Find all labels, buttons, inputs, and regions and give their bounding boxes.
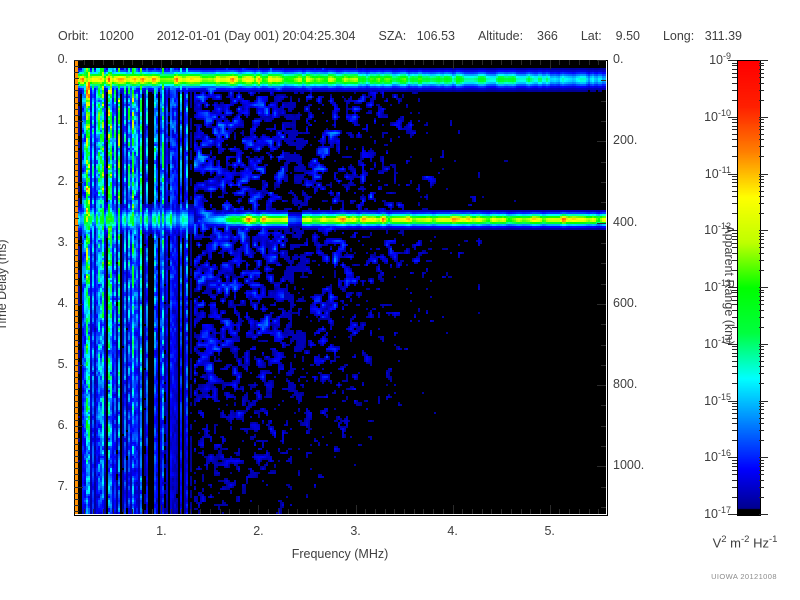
tick-mark	[759, 270, 764, 271]
y-axis-right-tick-label: 1000.	[613, 458, 673, 472]
tick-mark	[84, 60, 85, 65]
tick-mark	[74, 444, 79, 445]
tick-mark	[569, 60, 570, 65]
tick-mark	[732, 413, 737, 414]
tick-mark	[732, 134, 737, 135]
tick-mark	[759, 83, 764, 84]
tick-mark	[74, 267, 79, 268]
tick-mark	[74, 420, 79, 421]
tick-mark	[74, 383, 79, 384]
tick-mark	[74, 505, 79, 506]
tick-mark	[346, 60, 347, 65]
tick-mark	[74, 164, 79, 165]
colorbar[interactable]	[737, 60, 761, 516]
tick-mark	[181, 509, 182, 514]
tick-mark	[385, 509, 386, 514]
y-axis-tick-label: 5.	[34, 357, 68, 371]
tick-mark	[732, 260, 737, 261]
tick-mark	[732, 239, 737, 240]
tick-mark	[759, 179, 764, 180]
tick-mark	[123, 509, 124, 514]
tick-mark	[732, 366, 737, 367]
y-axis-tick-label: 6.	[34, 418, 68, 432]
tick-mark	[601, 365, 606, 366]
tick-mark	[601, 426, 606, 427]
tick-mark	[74, 432, 79, 433]
tick-mark	[732, 213, 737, 214]
tick-mark	[759, 260, 764, 261]
tick-mark	[511, 60, 512, 65]
tick-mark	[732, 119, 737, 120]
tick-mark	[501, 509, 502, 514]
altitude-value: 366	[537, 29, 558, 43]
tick-mark	[161, 60, 162, 69]
tick-mark	[759, 300, 764, 301]
tick-mark	[732, 460, 737, 461]
colorbar-tick-label: 10-15	[675, 392, 731, 408]
tick-mark	[759, 487, 764, 488]
tick-mark	[601, 345, 606, 346]
tick-mark	[759, 327, 764, 328]
tick-mark	[414, 60, 415, 65]
tick-mark	[84, 509, 85, 514]
tick-mark	[462, 509, 463, 514]
tick-mark	[759, 203, 764, 204]
tick-mark	[601, 243, 606, 244]
tick-mark	[759, 233, 764, 234]
tick-mark	[601, 121, 606, 122]
tick-mark	[74, 60, 83, 61]
tick-mark	[74, 237, 79, 238]
tick-mark	[759, 186, 764, 187]
tick-mark	[559, 509, 560, 514]
tick-mark	[759, 514, 768, 515]
tick-mark	[288, 60, 289, 65]
tick-mark	[732, 353, 737, 354]
tick-mark	[601, 405, 606, 406]
tick-mark	[759, 304, 764, 305]
tick-mark	[759, 356, 764, 357]
tick-mark	[472, 60, 473, 65]
tick-mark	[462, 60, 463, 65]
tick-mark	[74, 170, 79, 171]
tick-mark	[74, 261, 79, 262]
tick-mark	[74, 188, 79, 189]
tick-mark	[74, 493, 79, 494]
tick-mark	[74, 389, 79, 390]
tick-mark	[74, 322, 79, 323]
tick-mark	[74, 231, 79, 232]
tick-mark	[759, 413, 764, 414]
tick-mark	[326, 509, 327, 514]
tick-mark	[759, 119, 764, 120]
tick-mark	[732, 383, 737, 384]
tick-mark	[759, 213, 764, 214]
tick-mark	[74, 182, 83, 183]
tick-mark	[732, 409, 737, 410]
tick-mark	[132, 60, 133, 65]
tick-mark	[759, 174, 768, 175]
tick-mark	[732, 474, 737, 475]
x-axis-title: Frequency (MHz)	[74, 547, 606, 561]
tick-mark	[258, 505, 259, 514]
tick-mark	[732, 139, 737, 140]
tick-mark	[601, 324, 606, 325]
tick-mark	[74, 346, 79, 347]
tick-mark	[200, 60, 201, 65]
tick-mark	[268, 509, 269, 514]
tick-mark	[732, 176, 737, 177]
tick-mark	[74, 218, 79, 219]
tick-mark	[93, 509, 94, 514]
tick-mark	[356, 505, 357, 514]
tick-mark	[394, 509, 395, 514]
colorbar-tick-label: 10-11	[675, 165, 731, 181]
tick-mark	[142, 509, 143, 514]
tick-mark	[74, 206, 79, 207]
tick-mark	[501, 60, 502, 65]
tick-mark	[732, 129, 737, 130]
long-label: Long:	[663, 29, 694, 43]
tick-mark	[132, 509, 133, 514]
tick-mark	[482, 509, 483, 514]
tick-mark	[732, 243, 737, 244]
tick-mark	[759, 353, 764, 354]
tick-mark	[404, 509, 405, 514]
tick-mark	[601, 487, 606, 488]
tick-mark	[732, 300, 737, 301]
colorbar-tick-label: 10-13	[675, 278, 731, 294]
tick-mark	[375, 60, 376, 65]
tick-mark	[759, 430, 764, 431]
tick-mark	[93, 60, 94, 65]
tick-mark	[123, 60, 124, 65]
tick-mark	[759, 139, 764, 140]
tick-mark	[759, 90, 764, 91]
tick-mark	[732, 126, 737, 127]
tick-mark	[589, 509, 590, 514]
tick-mark	[453, 60, 454, 69]
tick-mark	[74, 480, 79, 481]
tick-mark	[732, 292, 737, 293]
tick-mark	[103, 509, 104, 514]
tick-mark	[530, 509, 531, 514]
tick-mark	[74, 298, 79, 299]
tick-mark	[732, 356, 737, 357]
long-value: 311.39	[705, 29, 742, 43]
tick-mark	[759, 60, 768, 61]
tick-mark	[74, 279, 79, 280]
tick-mark	[759, 418, 764, 419]
tick-mark	[759, 440, 764, 441]
tick-mark	[336, 509, 337, 514]
tick-mark	[375, 509, 376, 514]
tick-mark	[161, 505, 162, 514]
tick-mark	[268, 60, 269, 65]
tick-mark	[74, 353, 79, 354]
tick-mark	[601, 446, 606, 447]
tick-mark	[759, 480, 764, 481]
tick-mark	[759, 253, 764, 254]
tick-mark	[759, 117, 768, 118]
tick-mark	[74, 176, 79, 177]
tick-mark	[759, 290, 764, 291]
tick-mark	[113, 60, 114, 65]
tick-mark	[74, 304, 83, 305]
tick-mark	[74, 158, 79, 159]
tick-mark	[74, 243, 83, 244]
tick-mark	[74, 249, 79, 250]
tick-mark	[601, 80, 606, 81]
tick-mark	[433, 509, 434, 514]
tick-mark	[597, 385, 606, 386]
tick-mark	[759, 310, 764, 311]
tick-mark	[74, 212, 79, 213]
y-axis-right-tick-label: 0.	[613, 52, 673, 66]
tick-mark	[414, 509, 415, 514]
tick-mark	[732, 304, 737, 305]
tick-mark	[759, 122, 764, 123]
tick-mark	[326, 60, 327, 65]
tick-mark	[521, 509, 522, 514]
tick-mark	[249, 509, 250, 514]
y-axis-tick-label: 2.	[34, 174, 68, 188]
tick-mark	[74, 316, 79, 317]
tick-mark	[759, 317, 764, 318]
observation-datetime: 2012-01-01 (Day 001) 20:04:25.304	[157, 29, 356, 43]
tick-mark	[443, 509, 444, 514]
tick-mark	[732, 463, 737, 464]
tick-mark	[732, 122, 737, 123]
tick-mark	[74, 450, 79, 451]
tick-mark	[601, 202, 606, 203]
tick-mark	[220, 509, 221, 514]
radargram-heatmap[interactable]	[74, 60, 606, 514]
y-axis-right-tick-label: 800.	[613, 377, 673, 391]
tick-mark	[601, 182, 606, 183]
tick-mark	[74, 377, 79, 378]
tick-mark	[152, 509, 153, 514]
y-axis-right-tick-label: 600.	[613, 296, 673, 310]
tick-mark	[732, 182, 737, 183]
tick-mark	[759, 146, 764, 147]
tick-mark	[732, 247, 737, 248]
tick-mark	[210, 60, 211, 65]
tick-mark	[732, 296, 737, 297]
tick-mark	[74, 255, 79, 256]
tick-mark	[210, 509, 211, 514]
tick-mark	[103, 60, 104, 65]
tick-mark	[74, 145, 79, 146]
tick-mark	[759, 287, 768, 288]
tick-mark	[74, 462, 79, 463]
tick-mark	[336, 60, 337, 65]
tick-mark	[74, 194, 79, 195]
tick-mark	[732, 73, 737, 74]
sza-value: 106.53	[417, 29, 455, 43]
tick-mark	[356, 60, 357, 69]
y-axis-tick-label: 0.	[34, 52, 68, 66]
tick-mark	[732, 361, 737, 362]
tick-mark	[589, 60, 590, 65]
tick-mark	[74, 468, 79, 469]
tick-mark	[732, 69, 737, 70]
colorbar-tick-label: 10-16	[675, 448, 731, 464]
tick-mark	[190, 60, 191, 65]
tick-mark	[181, 60, 182, 65]
tick-mark	[759, 383, 764, 384]
tick-mark	[74, 407, 79, 408]
x-axis-tick-label: 3.	[336, 524, 376, 538]
y-axis-right-tick-label: 400.	[613, 215, 673, 229]
tick-mark	[759, 474, 764, 475]
tick-mark	[732, 290, 737, 291]
tick-mark	[732, 186, 737, 187]
tick-mark	[74, 109, 79, 110]
tick-mark	[759, 457, 768, 458]
tick-mark	[511, 509, 512, 514]
tick-mark	[759, 129, 764, 130]
tick-mark	[74, 340, 79, 341]
tick-mark	[74, 401, 79, 402]
tick-mark	[759, 126, 764, 127]
tick-mark	[74, 438, 79, 439]
tick-mark	[74, 66, 79, 67]
tick-mark	[759, 176, 764, 177]
tick-mark	[74, 359, 79, 360]
x-axis-tick-label: 5.	[530, 524, 570, 538]
tick-mark	[491, 509, 492, 514]
tick-mark	[190, 509, 191, 514]
tick-mark	[74, 273, 79, 274]
tick-mark	[74, 456, 79, 457]
tick-mark	[491, 60, 492, 65]
x-axis-tick-label: 2.	[238, 524, 278, 538]
tick-mark	[732, 156, 737, 157]
tick-mark	[74, 413, 79, 414]
tick-mark	[759, 230, 768, 231]
tick-mark	[759, 182, 764, 183]
tick-mark	[74, 371, 79, 372]
tick-mark	[482, 60, 483, 65]
tick-mark	[732, 480, 737, 481]
tick-mark	[732, 470, 737, 471]
tick-mark	[759, 366, 764, 367]
tick-mark	[423, 60, 424, 65]
tick-mark	[74, 499, 79, 500]
tick-mark	[385, 60, 386, 65]
tick-mark	[74, 328, 79, 329]
tick-mark	[732, 203, 737, 204]
tick-mark	[732, 236, 737, 237]
tick-mark	[74, 151, 79, 152]
tick-mark	[220, 60, 221, 65]
tick-mark	[74, 365, 83, 366]
tick-mark	[759, 292, 764, 293]
tick-mark	[229, 60, 230, 65]
altitude-label: Altitude:	[478, 29, 523, 43]
tick-mark	[278, 60, 279, 65]
tick-mark	[74, 334, 79, 335]
tick-mark	[732, 406, 737, 407]
y-axis-tick-label: 7.	[34, 479, 68, 493]
tick-mark	[732, 233, 737, 234]
tick-mark	[569, 509, 570, 514]
tick-mark	[307, 60, 308, 65]
tick-mark	[74, 133, 79, 134]
tick-mark	[74, 511, 79, 512]
tick-mark	[759, 243, 764, 244]
orbit-value: 10200	[99, 29, 134, 43]
tick-mark	[759, 373, 764, 374]
tick-mark	[732, 349, 737, 350]
tick-mark	[732, 346, 737, 347]
tick-mark	[74, 97, 79, 98]
tick-mark	[759, 156, 764, 157]
tick-mark	[759, 236, 764, 237]
tick-mark	[759, 460, 764, 461]
tick-mark	[759, 349, 764, 350]
tick-mark	[732, 90, 737, 91]
tick-mark	[433, 60, 434, 65]
tick-mark	[74, 292, 79, 293]
tick-mark	[288, 509, 289, 514]
colorbar-tick-label: 10-10	[675, 108, 731, 124]
tick-mark	[317, 60, 318, 65]
tick-mark	[759, 73, 764, 74]
tick-mark	[74, 90, 79, 91]
colorbar-tick-label: 10-9	[675, 51, 731, 67]
tick-mark	[74, 115, 79, 116]
colorbar-tick-label: 10-14	[675, 335, 731, 351]
tick-mark	[74, 395, 79, 396]
tick-mark	[597, 304, 606, 305]
tick-mark	[597, 141, 606, 142]
tick-mark	[550, 505, 551, 514]
tick-mark	[759, 406, 764, 407]
colorbar-tick-label: 10-12	[675, 221, 731, 237]
tick-mark	[732, 418, 737, 419]
tick-mark	[759, 296, 764, 297]
tick-mark	[249, 60, 250, 65]
tick-mark	[759, 401, 768, 402]
tick-mark	[74, 285, 79, 286]
tick-mark	[598, 60, 599, 65]
tick-mark	[759, 463, 764, 464]
tick-mark	[152, 60, 153, 65]
tick-mark	[74, 78, 79, 79]
tick-mark	[346, 509, 347, 514]
tick-mark	[601, 101, 606, 102]
y-axis-right-tick-label: 200.	[613, 133, 673, 147]
tick-mark	[74, 127, 79, 128]
tick-mark	[74, 474, 79, 475]
plot-header: Orbit: 10200 2012-01-01 (Day 001) 20:04:…	[0, 29, 800, 43]
lat-label: Lat:	[581, 29, 602, 43]
tick-mark	[472, 509, 473, 514]
tick-mark	[759, 470, 764, 471]
tick-mark	[365, 509, 366, 514]
tick-mark	[550, 60, 551, 69]
tick-mark	[601, 507, 606, 508]
tick-mark	[732, 253, 737, 254]
tick-mark	[759, 361, 764, 362]
y-axis-left-title: Time Delay (ms)	[0, 225, 9, 345]
tick-mark	[540, 509, 541, 514]
tick-mark	[239, 60, 240, 65]
tick-mark	[732, 65, 737, 66]
tick-mark	[732, 270, 737, 271]
